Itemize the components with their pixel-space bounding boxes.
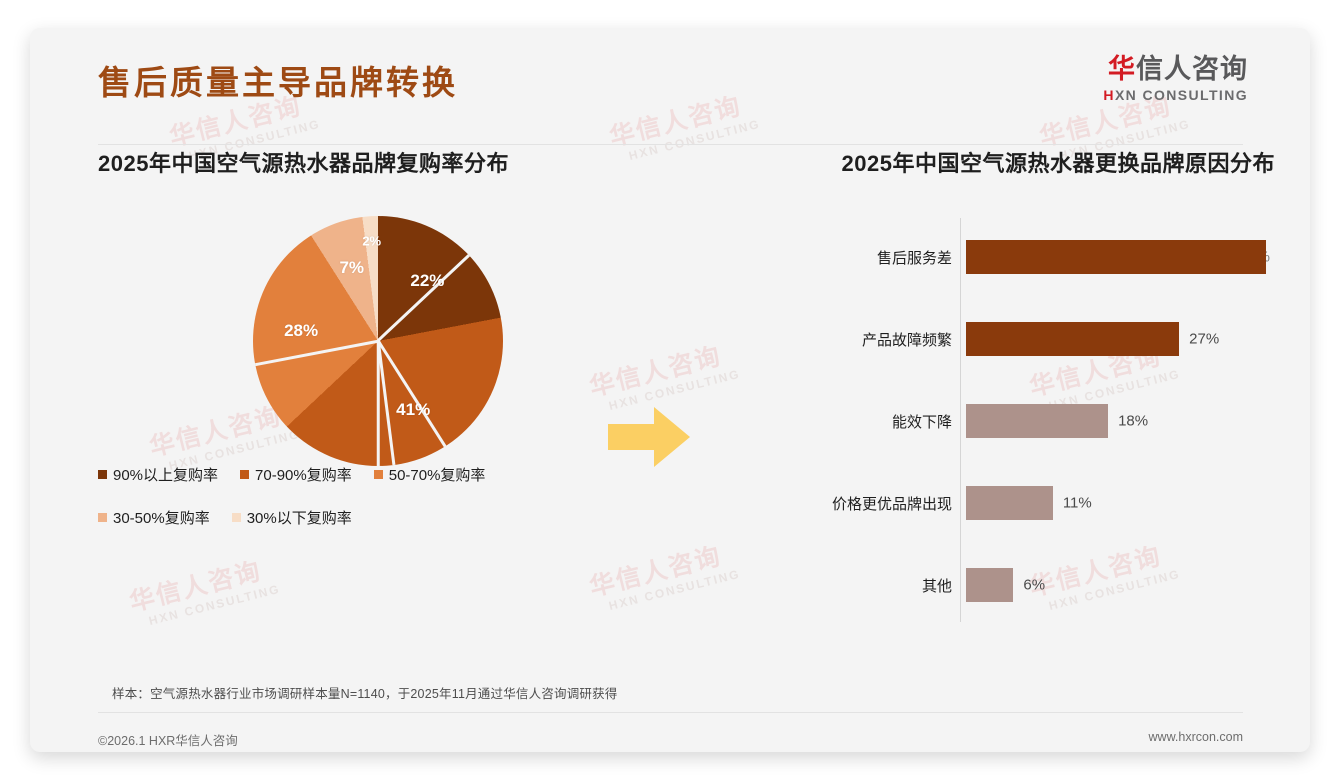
- bar-fill[interactable]: [966, 322, 1179, 356]
- bar-row: 价格更优品牌出现11%: [730, 486, 1275, 520]
- legend-item[interactable]: 90%以上复购率: [98, 464, 218, 485]
- bar-row: 其他6%: [730, 568, 1275, 602]
- bar-value-label: 27%: [1189, 331, 1219, 348]
- slide-content: 2025年中国空气源热水器品牌复购率分布 22%41%28%7%2% 90%以上…: [30, 146, 1310, 686]
- logo-accent-char: 华: [1108, 54, 1136, 84]
- legend-swatch-icon: [232, 513, 241, 522]
- slide-header: 售后质量主导品牌转换 华信人咨询 HXN CONSULTING: [30, 28, 1310, 128]
- bar-chart: 售后服务差38%产品故障频繁27%能效下降18%价格更优品牌出现11%其他6%: [730, 218, 1275, 638]
- legend-swatch-icon: [240, 470, 249, 479]
- bar-track: 11%: [966, 486, 1275, 520]
- pie-slice-separator: [255, 340, 378, 366]
- slide-card: 华信人咨询 HXN CONSULTING 华信人咨询 HXN CONSULTIN…: [30, 28, 1310, 752]
- pie-chart: 22%41%28%7%2%: [98, 208, 658, 508]
- bar-row: 能效下降18%: [730, 404, 1275, 438]
- legend-label: 30-50%复购率: [113, 507, 210, 528]
- bar-fill[interactable]: [966, 240, 1266, 274]
- logo-en-rest: XN CONSULTING: [1115, 87, 1248, 103]
- bar-track: 27%: [966, 322, 1275, 356]
- pie-slice-label: 22%: [410, 271, 444, 291]
- bar-chart-panel: 2025年中国空气源热水器更换品牌原因分布 售后服务差38%产品故障频繁27%能…: [730, 146, 1275, 638]
- legend-swatch-icon: [98, 513, 107, 522]
- bar-category-label: 产品故障频繁: [730, 329, 966, 350]
- bar-category-label: 价格更优品牌出现: [730, 493, 966, 514]
- legend-label: 90%以上复购率: [113, 464, 218, 485]
- bar-track: 38%: [966, 240, 1275, 274]
- legend-swatch-icon: [374, 470, 383, 479]
- logo-en-accent: H: [1103, 87, 1115, 103]
- legend-label: 50-70%复购率: [389, 464, 486, 485]
- bar-track: 18%: [966, 404, 1275, 438]
- footer-website: www.hxrcon.com: [1149, 730, 1243, 744]
- footer-divider: [98, 712, 1243, 713]
- right-arrow-icon: [608, 404, 690, 470]
- bar-fill[interactable]: [966, 404, 1108, 438]
- bar-category-label: 售后服务差: [730, 247, 966, 268]
- legend-item[interactable]: 30-50%复购率: [98, 507, 210, 528]
- bar-fill[interactable]: [966, 568, 1013, 602]
- pie-chart-title: 2025年中国空气源热水器品牌复购率分布: [98, 146, 658, 178]
- source-footnote: 样本：空气源热水器行业市场调研样本量N=1140，于2025年11月通过华信人咨…: [112, 683, 618, 702]
- bar-chart-title: 2025年中国空气源热水器更换品牌原因分布: [730, 146, 1275, 178]
- pie-slice-label: 41%: [396, 400, 430, 420]
- pie-chart-panel: 2025年中国空气源热水器品牌复购率分布 22%41%28%7%2% 90%以上…: [98, 146, 658, 508]
- legend-label: 70-90%复购率: [255, 464, 352, 485]
- pie-slice-separator: [377, 341, 395, 465]
- legend-item[interactable]: 70-90%复购率: [240, 464, 352, 485]
- legend-row: 90%以上复购率70-90%复购率50-70%复购率: [98, 464, 658, 485]
- bar-value-label: 18%: [1118, 413, 1148, 430]
- bar-category-label: 能效下降: [730, 411, 966, 432]
- legend-row: 30-50%复购率30%以下复购率: [98, 507, 658, 528]
- slide-footer: ©2026.1 HXR华信人咨询 www.hxrcon.com: [98, 722, 1243, 752]
- pie-legend: 90%以上复购率70-90%复购率50-70%复购率30-50%复购率30%以下…: [98, 464, 658, 550]
- header-divider: [98, 144, 1243, 145]
- pie-slice-label: 7%: [339, 258, 364, 278]
- company-logo: 华信人咨询 HXN CONSULTING: [1103, 55, 1248, 103]
- pie-slice-label: 28%: [284, 321, 318, 341]
- legend-item[interactable]: 50-70%复购率: [374, 464, 486, 485]
- logo-chinese: 华信人咨询: [1103, 55, 1248, 85]
- bar-track: 6%: [966, 568, 1275, 602]
- logo-rest-chars: 信人咨询: [1136, 54, 1248, 84]
- legend-label: 30%以下复购率: [247, 507, 352, 528]
- page-title: 售后质量主导品牌转换: [98, 56, 458, 104]
- pie-slice-label: 2%: [362, 234, 381, 249]
- logo-english: HXN CONSULTING: [1103, 87, 1248, 103]
- bar-category-label: 其他: [730, 575, 966, 596]
- bar-fill[interactable]: [966, 486, 1053, 520]
- pie-slice-separator: [377, 255, 470, 342]
- bar-row: 售后服务差38%: [730, 240, 1275, 274]
- bar-value-label: 11%: [1063, 495, 1092, 512]
- footer-copyright: ©2026.1 HXR华信人咨询: [98, 730, 238, 749]
- bar-value-label: 6%: [1023, 577, 1045, 594]
- bar-row: 产品故障频繁27%: [730, 322, 1275, 356]
- legend-item[interactable]: 30%以下复购率: [232, 507, 352, 528]
- legend-swatch-icon: [98, 470, 107, 479]
